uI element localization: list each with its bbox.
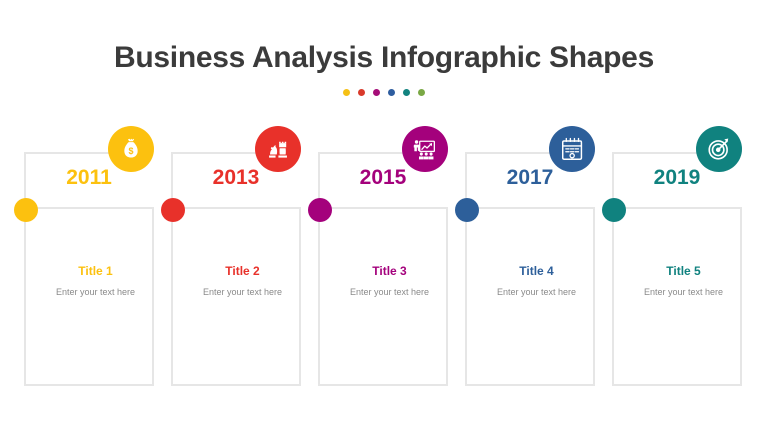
timeline-card[interactable]: 2015Title 3Enter your text here — [318, 124, 448, 386]
timeline-cards-row: 2011$Title 1Enter your text here2013Titl… — [24, 124, 744, 386]
card-bullet-dot — [308, 198, 332, 222]
timeline-card[interactable]: 2019Title 5Enter your text here — [612, 124, 742, 386]
card-title: Title 1 — [37, 264, 154, 279]
divider-dot — [403, 89, 410, 96]
card-bullet-dot — [14, 198, 38, 222]
target-icon[interactable] — [696, 126, 742, 172]
card-body-text: Enter your text here — [478, 286, 595, 298]
card-body-text: Enter your text here — [625, 286, 742, 298]
slide-header: Business Analysis Infographic Shapes — [0, 40, 768, 97]
divider-dot — [343, 89, 350, 96]
chess-pieces-icon[interactable] — [255, 126, 301, 172]
divider-dot — [418, 89, 425, 96]
money-bag-icon[interactable]: $ — [108, 126, 154, 172]
card-title: Title 2 — [184, 264, 301, 279]
decorative-dot-divider — [0, 87, 768, 97]
divider-dot — [358, 89, 365, 96]
card-bullet-dot — [455, 198, 479, 222]
page-title: Business Analysis Infographic Shapes — [0, 40, 768, 76]
presentation-chart-icon[interactable] — [402, 126, 448, 172]
svg-text:$: $ — [129, 146, 134, 156]
card-body-text: Enter your text here — [37, 286, 154, 298]
card-body-text: Enter your text here — [184, 286, 301, 298]
divider-dot — [373, 89, 380, 96]
timeline-card[interactable]: 2017Title 4Enter your text here — [465, 124, 595, 386]
card-bullet-dot — [602, 198, 626, 222]
divider-dot — [388, 89, 395, 96]
card-title: Title 3 — [331, 264, 448, 279]
timeline-card[interactable]: 2013Title 2Enter your text here — [171, 124, 301, 386]
card-body-text: Enter your text here — [331, 286, 448, 298]
infographic-slide: Business Analysis Infographic Shapes 201… — [0, 0, 768, 432]
card-title: Title 5 — [625, 264, 742, 279]
calendar-icon[interactable] — [549, 126, 595, 172]
card-bullet-dot — [161, 198, 185, 222]
timeline-card[interactable]: 2011$Title 1Enter your text here — [24, 124, 154, 386]
card-title: Title 4 — [478, 264, 595, 279]
